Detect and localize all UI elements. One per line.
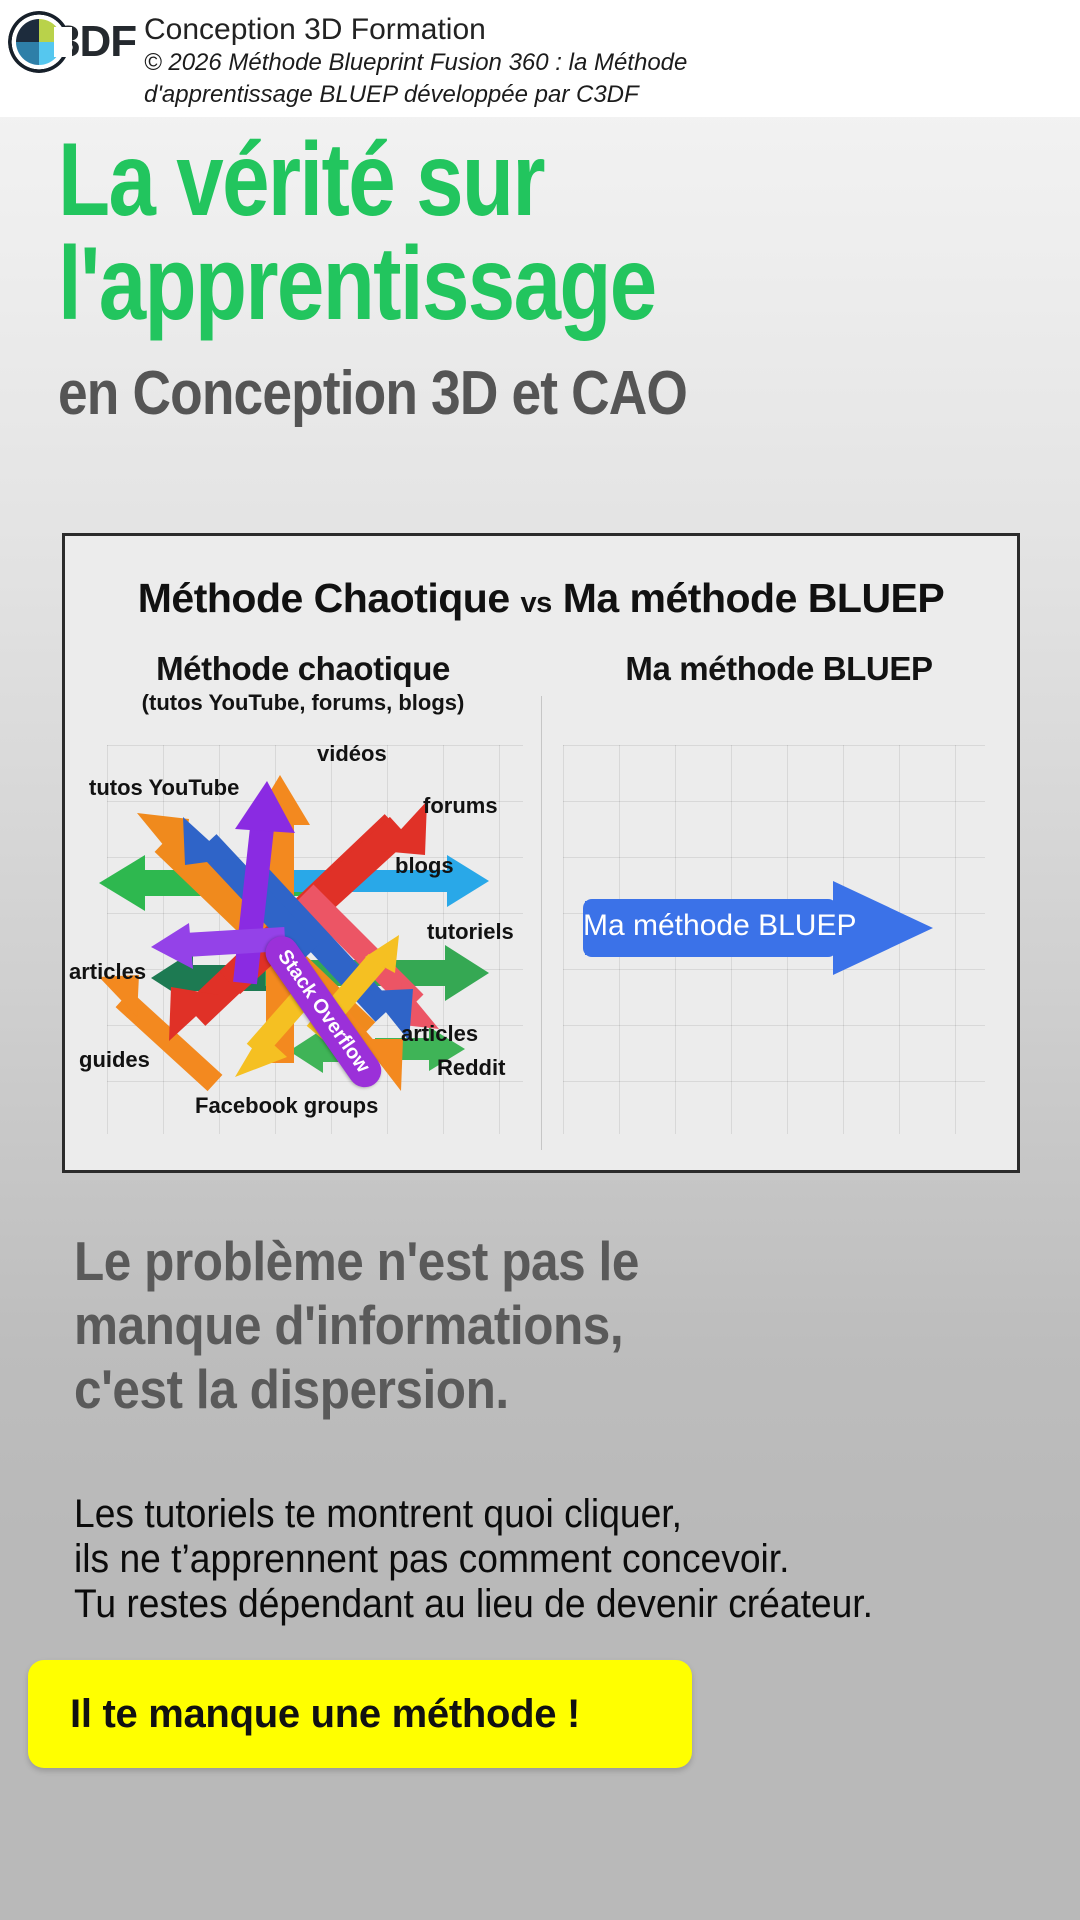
body-line-3: Tu restes dépendant au lieu de devenir c… — [74, 1582, 985, 1627]
right-column-title: Ma méthode BLUEP — [541, 650, 1017, 688]
cta-button[interactable]: Il te manque une méthode ! — [28, 1660, 692, 1768]
logo-ring-gap — [54, 27, 72, 57]
brand-logo[interactable]: 3DF — [0, 6, 140, 78]
chaos-label-reddit: Reddit — [437, 1055, 505, 1081]
chaotic-arrow-cluster: vidéos tutos YouTube forums blogs tutori… — [65, 733, 541, 1144]
left-column-subtitle: (tutos YouTube, forums, blogs) — [65, 690, 541, 716]
left-column-title: Méthode chaotique — [65, 650, 541, 688]
diagram-panes: vidéos tutos YouTube forums blogs tutori… — [65, 733, 1017, 1144]
lead-line-2: manque d'informations, — [74, 1294, 884, 1358]
chaos-label-videos: vidéos — [317, 741, 387, 767]
body-copy: Les tutoriels te montrent quoi cliquer, … — [74, 1492, 985, 1626]
copyright-line-2: d'apprentissage BLUEP développée par C3D… — [144, 79, 687, 110]
bluep-pane: Ma méthode BLUEP — [541, 733, 1017, 1144]
diagram-title-vs: vs — [521, 587, 552, 619]
chaos-label-guides: guides — [79, 1047, 150, 1073]
hero-heading-block: La vérité sur l'apprentissage en Concept… — [58, 128, 1038, 428]
poster-page: 3DF Conception 3D Formation © 2026 Métho… — [0, 0, 1080, 1920]
bluep-arrow-label: Ma méthode BLUEP — [583, 909, 843, 943]
chaos-label-tutos-youtube: tutos YouTube — [89, 775, 239, 801]
header-bar: 3DF Conception 3D Formation © 2026 Métho… — [0, 0, 1080, 117]
sub-headline: en Conception 3D et CAO — [58, 360, 901, 428]
lead-line-1: Le problème n'est pas le — [74, 1230, 884, 1294]
body-line-1: Les tutoriels te montrent quoi cliquer, — [74, 1492, 985, 1537]
c3df-circle-logo-icon — [8, 11, 70, 73]
chaos-label-facebook-groups: Facebook groups — [195, 1093, 378, 1119]
chaos-label-articles-left: articles — [69, 959, 146, 985]
body-line-2: ils ne t’apprennent pas comment concevoi… — [74, 1537, 985, 1582]
left-column-heading: Méthode chaotique (tutos YouTube, forums… — [65, 650, 541, 716]
chaos-label-articles-right: articles — [401, 1021, 478, 1047]
diagram-title: Méthode Chaotique vs Ma méthode BLUEP — [65, 575, 1017, 622]
headline-line-1: La vérité sur — [58, 128, 862, 232]
chaos-label-forums: forums — [423, 793, 498, 819]
cta-button-label: Il te manque une méthode ! — [70, 1692, 580, 1737]
chaos-label-tutoriels: tutoriels — [427, 919, 514, 945]
comparison-diagram-card: Méthode Chaotique vs Ma méthode BLUEP Mé… — [62, 533, 1020, 1173]
chaos-label-blogs: blogs — [395, 853, 454, 879]
chaotic-pane: vidéos tutos YouTube forums blogs tutori… — [65, 733, 541, 1144]
lead-line-3: c'est la dispersion. — [74, 1358, 884, 1422]
lead-message: Le problème n'est pas le manque d'inform… — [74, 1230, 884, 1421]
headline-line-2: l'apprentissage — [58, 232, 862, 336]
header-text-block: Conception 3D Formation © 2026 Méthode B… — [140, 6, 687, 110]
right-column-heading: Ma méthode BLUEP — [541, 650, 1017, 716]
diagram-title-left: Méthode Chaotique — [138, 575, 510, 621]
copyright-line-1: © 2026 Méthode Blueprint Fusion 360 : la… — [144, 47, 687, 78]
brand-title: Conception 3D Formation — [144, 12, 687, 47]
diagram-title-right: Ma méthode BLUEP — [563, 575, 945, 621]
